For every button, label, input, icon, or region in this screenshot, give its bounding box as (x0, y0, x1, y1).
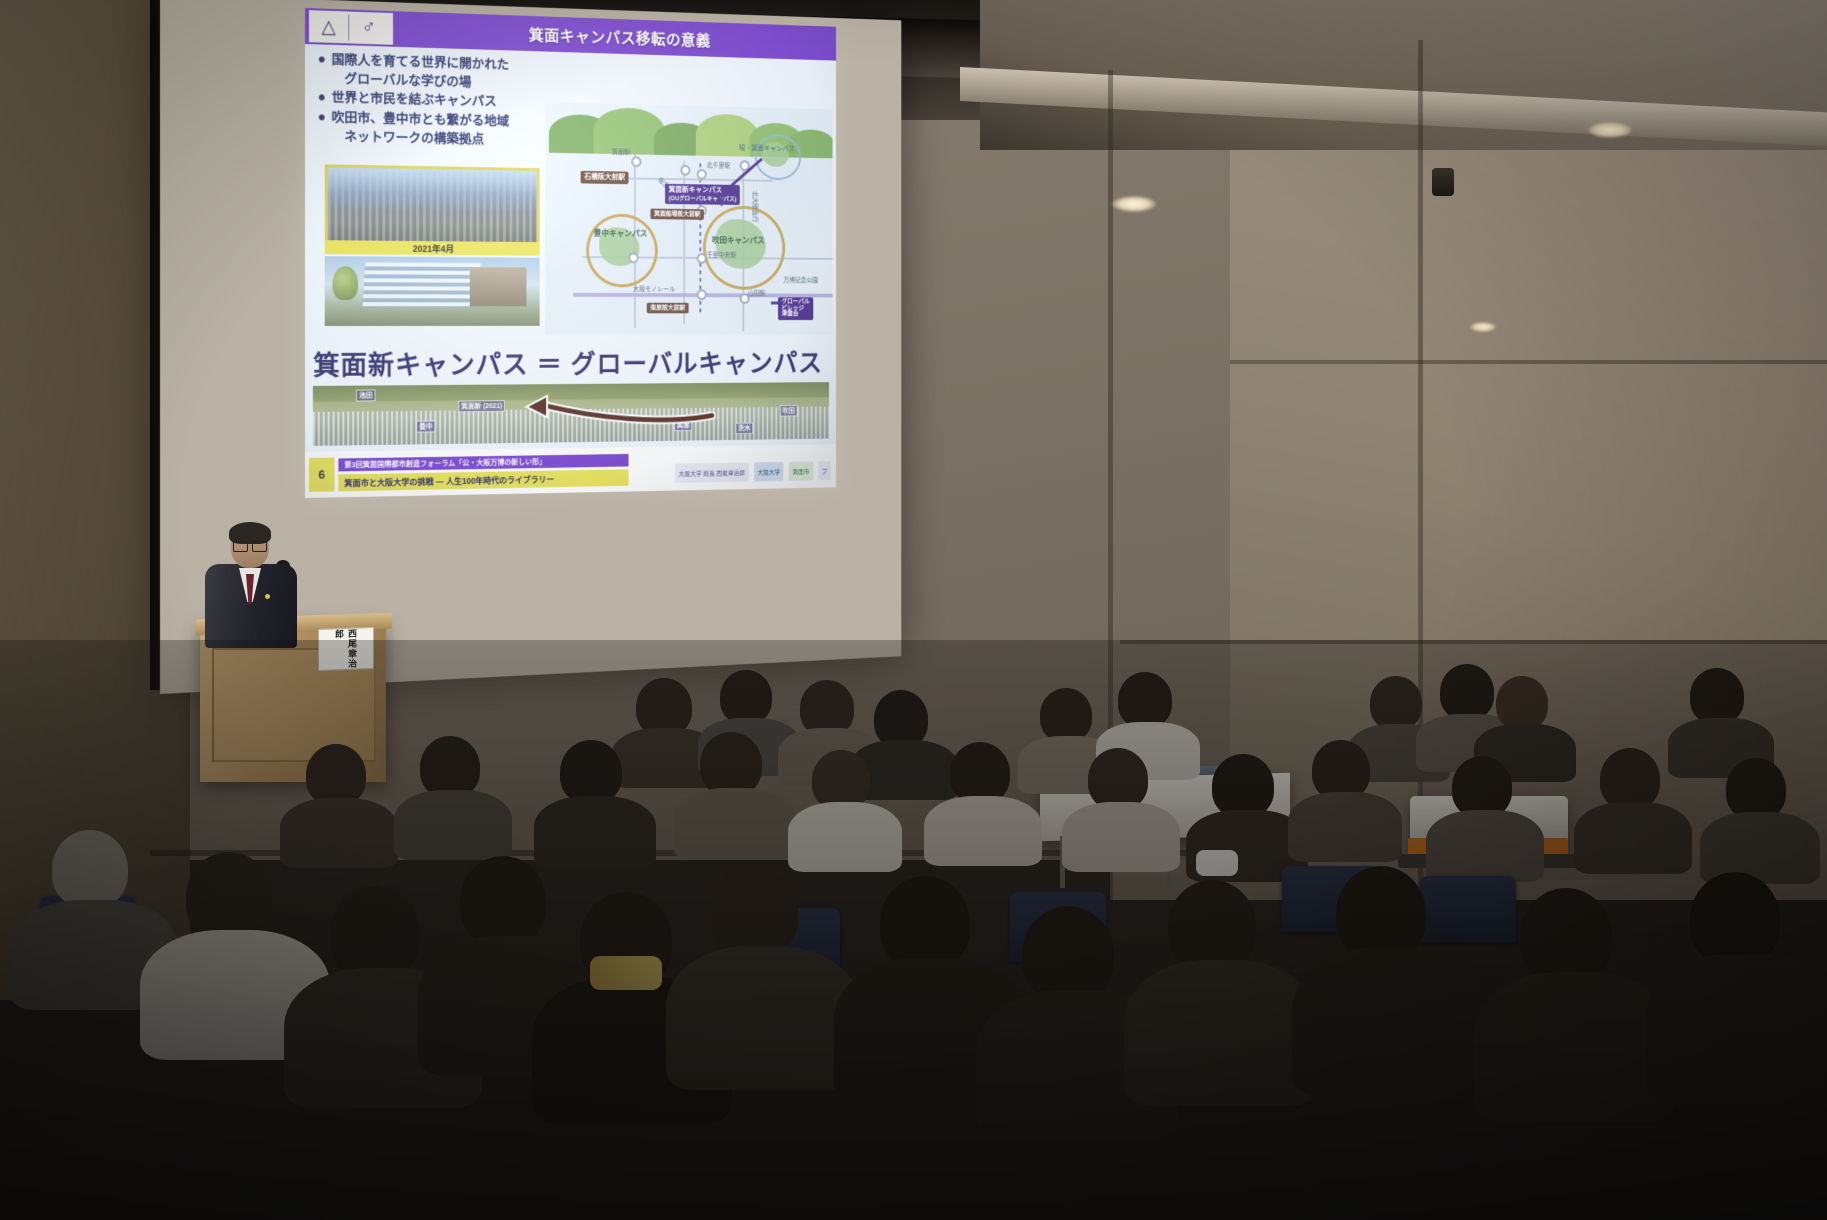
bullet-text-cont: ネットワークの構築拠点 (332, 128, 559, 151)
map-tag-shibahara: 柴原阪大前駅 (647, 303, 689, 314)
toyonaka-campus-ring (586, 214, 658, 288)
presenter-lapel-badge (265, 594, 270, 599)
glasses-icon (233, 541, 267, 550)
park-label: 万博記念公園 (783, 275, 818, 285)
tag-title: 箕面新キャンパス (669, 185, 722, 194)
hair-clip (590, 956, 662, 990)
slide-body: 国際人を育てる世界に開かれた グローバルな学びの場 世界と市民を結ぶキャンパス … (305, 44, 836, 452)
triangle-logo-icon: △ (309, 11, 348, 42)
aerial-photo-strip: 池田 箕面新 (2021) 豊中 箕面 茨木 吹田 (313, 382, 829, 446)
bullet-text: 国際人を育てる世界に開かれた (332, 52, 510, 72)
station-dot (740, 160, 750, 171)
station-label: 山田駅 (748, 288, 766, 298)
audience (0, 640, 1827, 1220)
footer-line-2: 箕面市と大阪大学の挑戦 ― 人生100年時代のライブラリー (338, 469, 628, 491)
map-tag-semba: 箕面船場阪大前駅 (650, 209, 704, 221)
station-dot (697, 253, 707, 264)
tag-sub2: 津雲台 (782, 311, 799, 318)
aerial-label-toyonaka: 豊中 (416, 421, 435, 433)
ceiling-downlight (1112, 196, 1156, 212)
aerial-label-ikeda: 池田 (356, 389, 375, 401)
station-label: 千里中央駅 (707, 249, 737, 259)
station-dot (697, 169, 707, 180)
station-dot (680, 165, 690, 176)
ceiling-speaker-icon (1432, 168, 1454, 196)
station-label: 北千里駅 (707, 160, 731, 170)
slide-logo-block: △ ♂ (309, 10, 393, 45)
station-dot (629, 253, 639, 264)
presenter (203, 524, 299, 644)
monorail-label: 大阪モノレール (633, 283, 675, 293)
org-chip-speaker: 大阪大学 総長 西尾章治郎 (675, 462, 749, 482)
station-dot (697, 289, 707, 300)
relocation-arrow-icon (504, 391, 716, 432)
building-render-2 (470, 267, 527, 306)
campus-photo-rendering (325, 256, 540, 326)
conference-photo: △ ♂ 箕面キャンパス移転の意義 国際人を育てる世界に開かれた グローバルな学び… (0, 0, 1827, 1220)
ceiling-downlight (1588, 122, 1632, 138)
station-dot (631, 156, 641, 167)
slide-headline: 箕面新キャンパス ＝ グローバルキャンパス (313, 343, 823, 383)
tree-shape (333, 266, 358, 300)
org-chip-university: 大阪大学 (754, 462, 784, 481)
slide-page-number: 6 (309, 458, 335, 492)
footer-line-1: 第3回箕面国際都市創造フォーラム「公・大阪万博の新しい形」 (338, 454, 628, 471)
aerial-label-mino-new: 箕面新 (2021) (458, 400, 505, 412)
face-mask (1196, 850, 1238, 876)
list-item: 吹田市、豊中市とも繋がる地域 ネットワークの構築拠点 (319, 109, 558, 151)
bullet-text: 世界と市民を結ぶキャンパス (332, 90, 497, 109)
aerial-label-suita: 吹田 (780, 405, 798, 417)
tree-logo-icon: ♂ (349, 13, 388, 44)
map-tag-global-village: グローバル ビレッジ 津雲台 (778, 297, 813, 320)
projected-slide: △ ♂ 箕面キャンパス移転の意義 国際人を育てる世界に開かれた グローバルな学び… (305, 8, 836, 498)
current-mino-campus-ring (755, 134, 801, 180)
footer-organizations: 大阪大学 総長 西尾章治郎 大阪大学 箕面市 ブ (675, 461, 831, 483)
slide-bullet-list: 国際人を育てる世界に開かれた グローバルな学びの場 世界と市民を結ぶキャンパス … (319, 50, 558, 151)
region-map: 箕面駅 北千里駅 千里中央駅 山田駅 大阪モノレール 万博記念公園 豊中キャンパ… (545, 102, 832, 335)
bullet-text: 吹田市、豊中市とも繋がる地域 (332, 110, 510, 129)
campus-photo-aerial (325, 164, 540, 250)
map-tag-new-mino-campus: 箕面新キャンパス (OUグローバルキャンパス) (665, 184, 740, 205)
aerial-label-ibaraki: 茨木 (735, 423, 753, 435)
org-chip-extra: ブ (818, 461, 831, 480)
campus-label-toyonaka: 豊中キャンパス (594, 227, 648, 239)
building-render (362, 262, 481, 308)
suita-campus-ring (703, 205, 785, 289)
station-label: 箕面駅 (612, 146, 630, 156)
photo-caption: 2021年4月 (325, 240, 540, 256)
campus-label-current-mino: 現・箕面キャンパス (739, 143, 795, 154)
rail-label: 北大阪急行 (751, 191, 760, 222)
ceiling-downlight (1470, 322, 1496, 332)
campus-label-suita: 吹田キャンパス (712, 234, 764, 246)
wall-seam (1230, 360, 1827, 364)
org-chip-city: 箕面市 (789, 461, 813, 480)
city-texture (328, 167, 537, 247)
tag-sub: (OUグローバルキャンパス) (669, 195, 737, 203)
map-tag-ishibashi: 石橋阪大前駅 (581, 171, 629, 184)
list-item: 国際人を育てる世界に開かれた グローバルな学びの場 (319, 50, 558, 94)
